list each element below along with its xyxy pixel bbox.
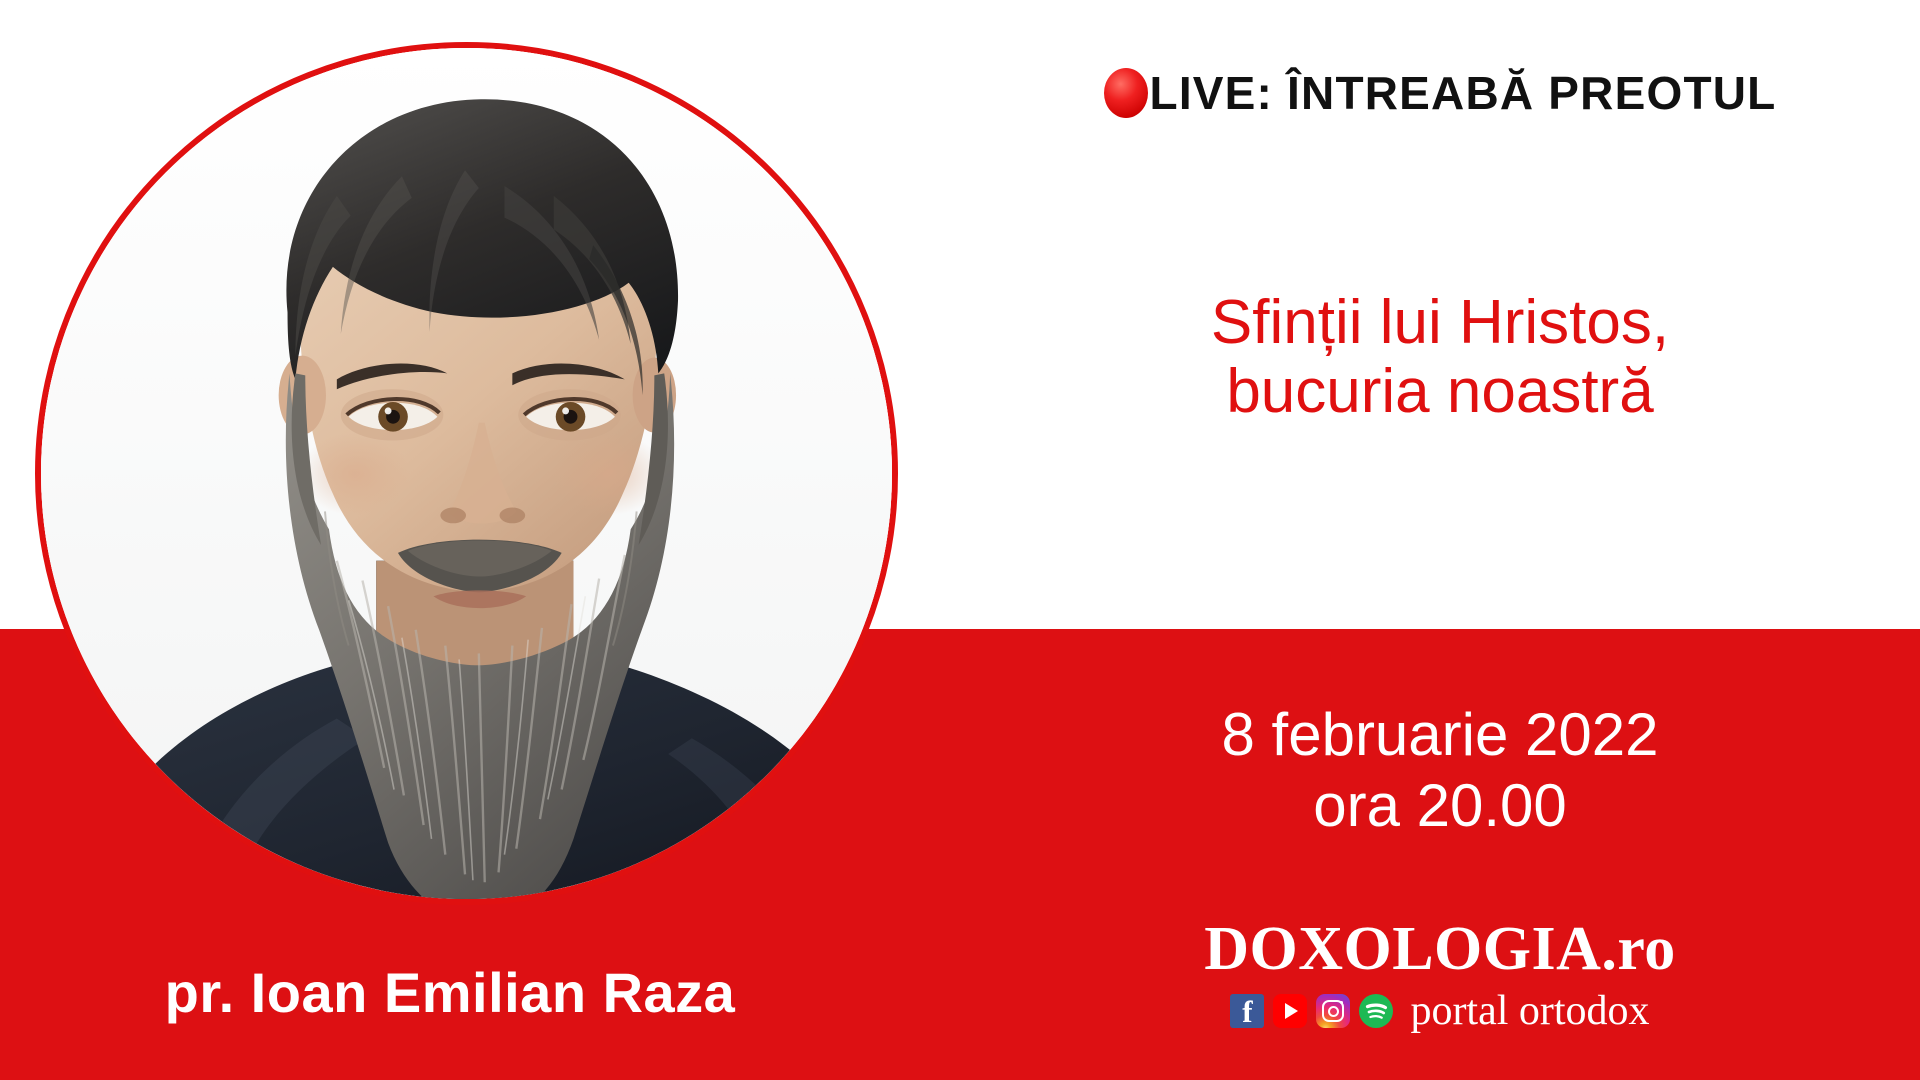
event-datetime: 8 februarie 2022 ora 20.00 <box>960 700 1920 842</box>
brand-name[interactable]: DOXOLOGIA.ro <box>960 918 1920 980</box>
instagram-lens <box>1328 1006 1339 1017</box>
presenter-photo <box>41 48 892 899</box>
presenter-name: pr. Ioan Emilian Raza <box>0 965 900 1021</box>
event-title-line-2: bucuria noastră <box>960 357 1920 426</box>
youtube-icon[interactable] <box>1273 994 1307 1028</box>
facebook-icon[interactable]: f <box>1230 994 1264 1028</box>
event-date: 8 februarie 2022 <box>960 700 1920 771</box>
spotify-icon[interactable] <box>1359 994 1393 1028</box>
live-event-poster: pr. Ioan Emilian Raza LIVE: ÎNTREABĂ PRE… <box>0 0 1920 1080</box>
event-title-line-1: Sfinții lui Hristos, <box>960 288 1920 357</box>
facebook-glyph: f <box>1230 994 1264 1028</box>
youtube-play-triangle <box>1285 1003 1298 1019</box>
event-title: Sfinții lui Hristos, bucuria noastră <box>960 288 1920 427</box>
instagram-icon[interactable] <box>1316 994 1350 1028</box>
brand-social-row: f <box>960 990 1920 1032</box>
brand-block: DOXOLOGIA.ro f <box>960 918 1920 1032</box>
presenter-photo-circle <box>35 42 898 905</box>
right-content-column: LIVE: ÎNTREABĂ PREOTUL Sfinții lui Hrist… <box>960 0 1920 1080</box>
event-time: ora 20.00 <box>960 771 1920 842</box>
live-dot-icon <box>1104 68 1148 118</box>
live-label: LIVE: ÎNTREABĂ PREOTUL <box>1150 70 1777 116</box>
brand-tagline: portal ortodox <box>1410 990 1649 1032</box>
live-header: LIVE: ÎNTREABĂ PREOTUL <box>960 68 1920 118</box>
